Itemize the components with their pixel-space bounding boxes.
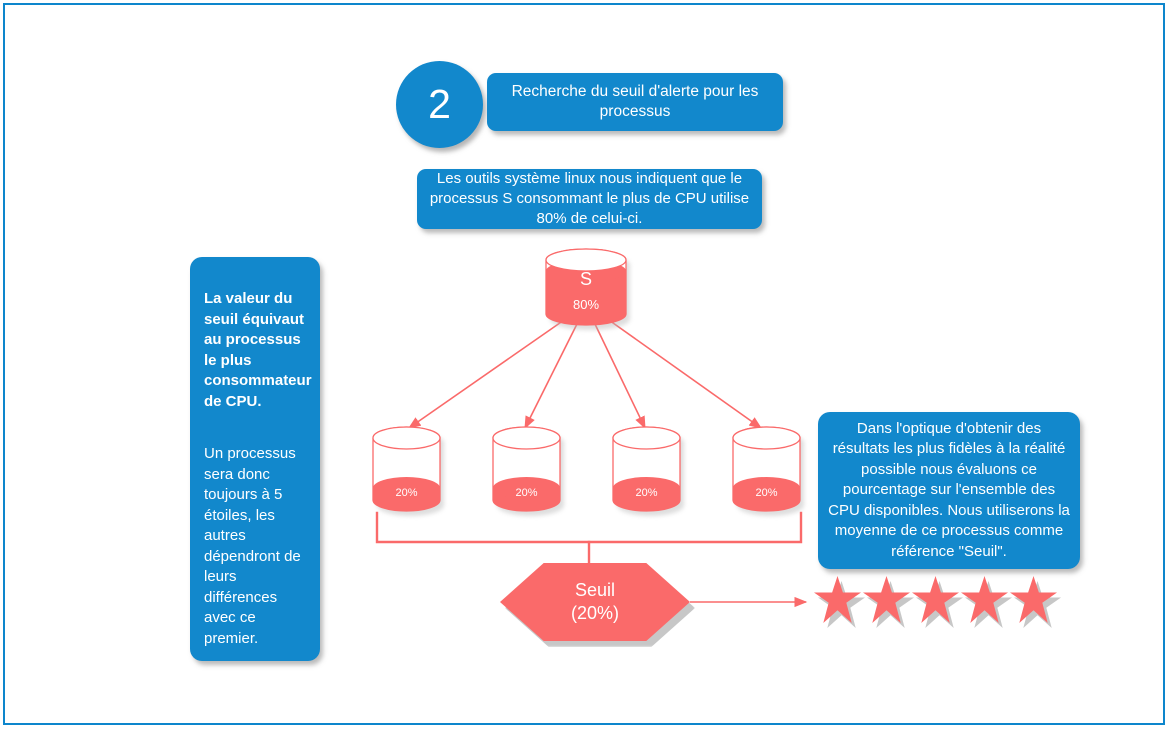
star-icon <box>960 576 1009 628</box>
cpu-cylinder-3: 20% <box>613 427 680 511</box>
arrow-s-to-cpu2 <box>525 322 578 428</box>
threshold-hexagon: Seuil (20%) <box>500 563 690 641</box>
arrow-s-to-cpu1 <box>409 318 567 428</box>
left-explanation-paragraph-2: Un processus sera donc toujours à 5 étoi… <box>204 444 306 649</box>
linux-tools-note-box: Les outils système linux nous indiquent … <box>417 169 762 229</box>
star-icon <box>1009 576 1058 628</box>
linux-tools-note-text: Les outils système linux nous indiquent … <box>425 169 754 229</box>
star-rating <box>813 576 1058 630</box>
cpu-cylinder-percent: 20% <box>493 487 560 499</box>
cpu-cylinder-4: 20% <box>733 427 800 511</box>
left-explanation-box: La valeur du seuil équivaut au processus… <box>190 257 320 661</box>
star-icon <box>911 576 960 628</box>
star-icon <box>862 576 911 628</box>
right-explanation-text: Dans l'optique d'obtenir des résultats l… <box>827 419 1071 563</box>
cpu-cylinder-percent: 20% <box>733 487 800 499</box>
cpu-cylinder-percent: 20% <box>373 487 440 499</box>
hexagon-value: (20%) <box>571 602 619 625</box>
step-number: 2 <box>428 84 451 125</box>
main-cylinder-label: S <box>546 269 626 290</box>
diagram-canvas: 2 Recherche du seuil d'alerte pour les p… <box>0 0 1170 732</box>
left-explanation-paragraph-1: La valeur du seuil équivaut au processus… <box>204 289 306 412</box>
hexagon-label: Seuil <box>575 579 615 602</box>
star-icon <box>813 576 862 628</box>
step-number-badge: 2 <box>396 61 483 148</box>
arrow-s-to-cpu4 <box>606 318 761 428</box>
right-explanation-box: Dans l'optique d'obtenir des résultats l… <box>818 412 1080 569</box>
title-box: Recherche du seuil d'alerte pour les pro… <box>487 73 783 131</box>
main-process-cylinder: S 80% <box>546 249 626 325</box>
bracket-cpu-to-seuil <box>377 513 801 542</box>
cpu-cylinder-1: 20% <box>373 427 440 511</box>
cpu-cylinder-2: 20% <box>493 427 560 511</box>
main-cylinder-percent: 80% <box>546 297 626 312</box>
cpu-cylinder-percent: 20% <box>613 487 680 499</box>
arrow-s-to-cpu3 <box>594 322 645 428</box>
title-text: Recherche du seuil d'alerte pour les pro… <box>497 82 773 122</box>
